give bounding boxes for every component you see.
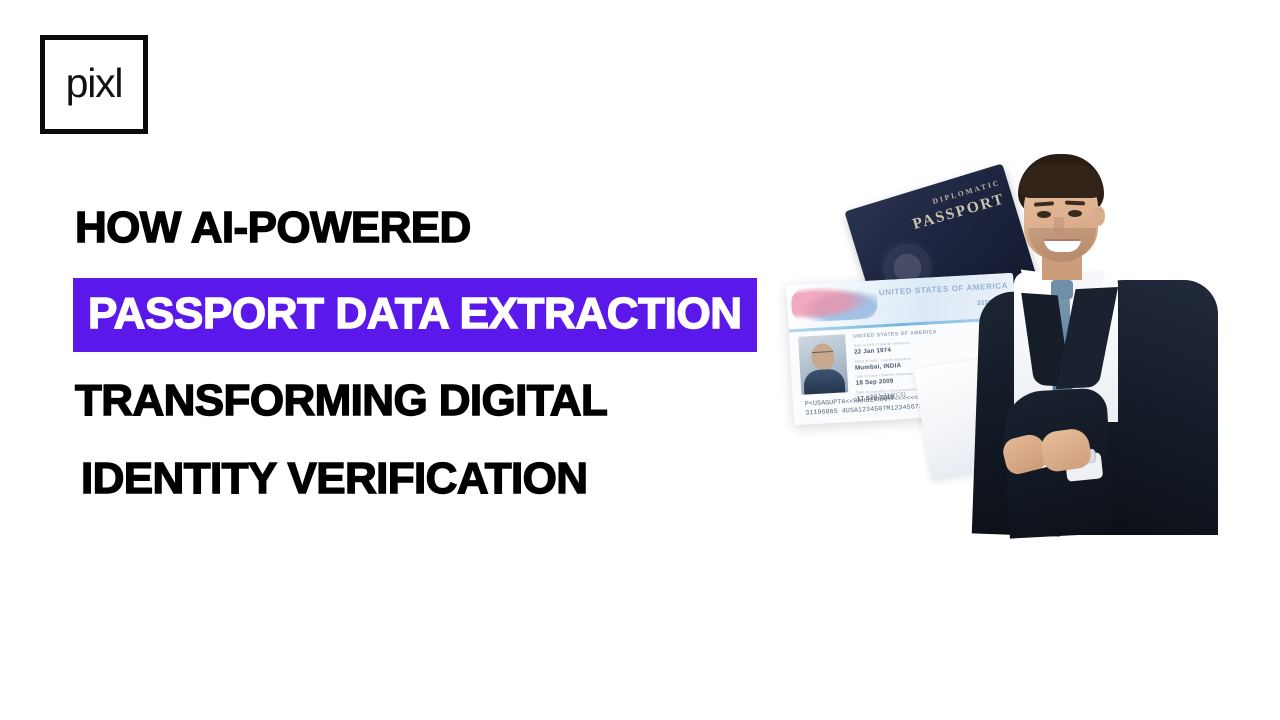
pixl-logo[interactable]: pixl: [40, 35, 148, 134]
businessman-photo: [966, 154, 1224, 535]
hand-right: [1039, 427, 1092, 473]
id-card-guilloche-pattern: [790, 284, 878, 323]
nose: [1054, 217, 1064, 234]
portrait-torso: [803, 368, 845, 394]
id-card-portrait-photo: [798, 334, 848, 395]
headline-line-3: TRANSFORMING DIGITAL: [75, 379, 773, 423]
logo-wordmark: pixl: [66, 63, 123, 104]
headline-line-1: HOW AI-POWERED: [75, 206, 773, 250]
hair-front: [1020, 164, 1102, 198]
hero-banner: pixl HOW AI-POWERED PASSPORT DATA EXTRAC…: [0, 0, 1280, 720]
eye-right: [1068, 210, 1082, 217]
headline-highlighted-line: PASSPORT DATA EXTRACTION: [73, 278, 757, 352]
ear: [1092, 206, 1105, 226]
hero-illustration: DIPLOMATIC PASSPORT UNITED STATES OF AME…: [770, 140, 1220, 535]
headline-line-4: IDENTITY VERIFICATION: [81, 457, 773, 501]
eye-left: [1037, 211, 1051, 218]
headline-highlight-wrap: PASSPORT DATA EXTRACTION: [73, 278, 773, 352]
headline-block: HOW AI-POWERED PASSPORT DATA EXTRACTION …: [73, 206, 773, 501]
